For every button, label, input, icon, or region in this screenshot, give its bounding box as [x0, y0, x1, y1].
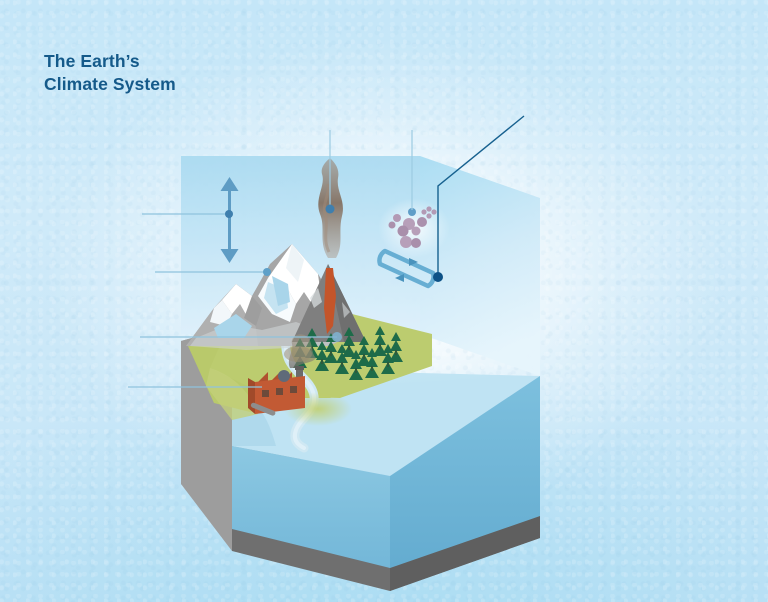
climate-system-illustration — [0, 46, 768, 602]
molecule-cluster — [378, 198, 450, 258]
infographic-canvas: The Earth’s Climate System — [0, 0, 768, 602]
